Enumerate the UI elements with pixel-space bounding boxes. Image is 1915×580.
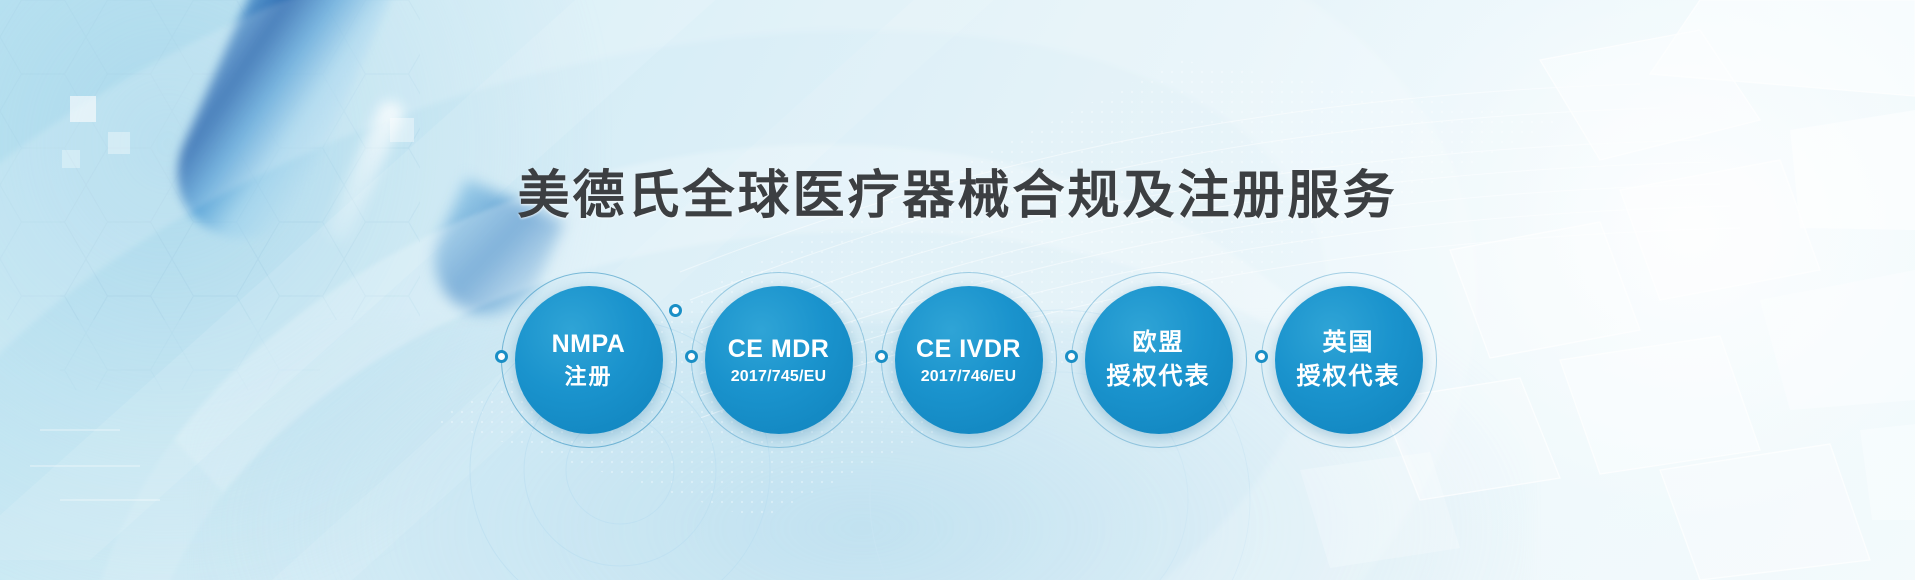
badge-ce-ivdr[interactable]: CE IVDR 2017/746/EU: [895, 286, 1043, 434]
ring-node-icon: [875, 350, 888, 363]
badge-labels: 欧盟 授权代表: [1101, 328, 1217, 392]
ring-node-icon: [495, 350, 508, 363]
badge-title: 英国: [1297, 328, 1401, 359]
badge-eu-authorized-representative[interactable]: 欧盟 授权代表: [1085, 286, 1233, 434]
badge-labels: 英国 授权代表: [1291, 328, 1407, 392]
badge-title: 欧盟: [1107, 328, 1211, 359]
badge-title: NMPA: [552, 328, 626, 360]
badge-subtitle: 2017/745/EU: [728, 367, 830, 387]
badge-nmpa[interactable]: NMPA 注册: [515, 286, 663, 434]
hero-banner: 美德氏全球医疗器械合规及注册服务 NMPA 注册 CE MDR 2017/745…: [0, 0, 1915, 580]
badge-labels: NMPA 注册: [546, 328, 632, 391]
ring-node-icon: [669, 304, 682, 317]
badge-subtitle: 2017/746/EU: [916, 367, 1021, 387]
badge-subtitle: 授权代表: [1297, 362, 1401, 393]
badge-title: CE IVDR: [916, 333, 1021, 365]
badge-uk-authorized-representative[interactable]: 英国 授权代表: [1275, 286, 1423, 434]
ring-node-icon: [685, 350, 698, 363]
badge-ce-mdr[interactable]: CE MDR 2017/745/EU: [705, 286, 853, 434]
badge-labels: CE IVDR 2017/746/EU: [910, 333, 1027, 387]
ring-node-icon: [1255, 350, 1268, 363]
page-title: 美德氏全球医疗器械合规及注册服务: [0, 153, 1915, 228]
badge-title: CE MDR: [728, 333, 830, 365]
service-badge-row: NMPA 注册 CE MDR 2017/745/EU CE IVDR 2017/…: [0, 286, 1915, 434]
badge-subtitle: 授权代表: [1107, 362, 1211, 393]
badge-labels: CE MDR 2017/745/EU: [722, 333, 836, 387]
ring-node-icon: [1065, 350, 1078, 363]
badge-subtitle: 注册: [552, 363, 626, 391]
